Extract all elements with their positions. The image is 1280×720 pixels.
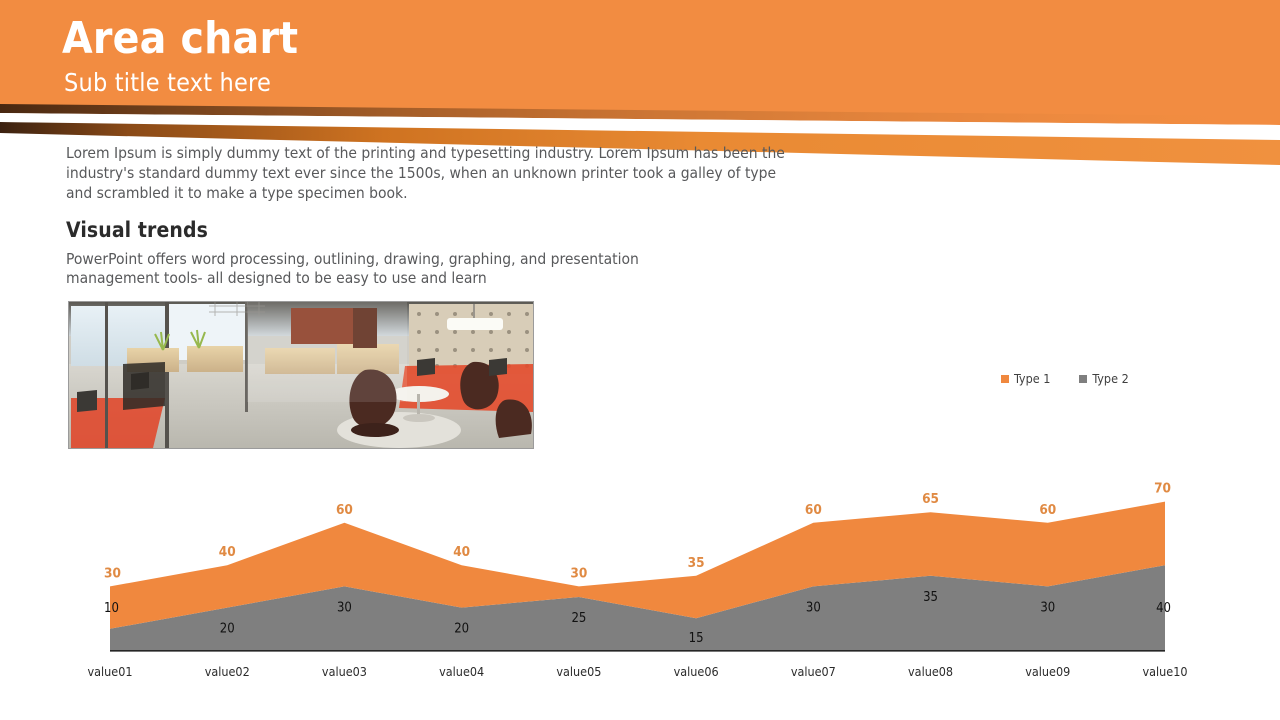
chart-label: value04 bbox=[439, 664, 484, 679]
office-interior-image bbox=[68, 301, 534, 449]
chart-label: value06 bbox=[674, 664, 719, 679]
chart-label: 30 bbox=[806, 600, 821, 615]
chart-label: value07 bbox=[791, 664, 836, 679]
chart-label: 35 bbox=[923, 590, 938, 605]
chart-label: 25 bbox=[571, 611, 586, 626]
chart-label: value09 bbox=[1025, 664, 1070, 679]
chart-label: 40 bbox=[453, 544, 470, 560]
chart-label: value02 bbox=[205, 664, 250, 679]
chart-label: 40 bbox=[219, 544, 236, 560]
stacked-area-chart: 30406040303560656070 1020302025153035304… bbox=[0, 455, 1280, 700]
slide: Area chart Sub title text here Lorem Ips… bbox=[0, 0, 1280, 720]
chart-label: 20 bbox=[220, 622, 235, 637]
chart-label: 65 bbox=[922, 491, 939, 507]
legend-item-type-2[interactable]: Type 2 bbox=[1079, 371, 1128, 386]
chart-label: 10 bbox=[104, 601, 119, 616]
chart-label: value05 bbox=[556, 664, 601, 679]
chart-label: 70 bbox=[1154, 481, 1171, 497]
intro-paragraph: Lorem Ipsum is simply dummy text of the … bbox=[66, 143, 796, 203]
chart-label: 40 bbox=[1156, 601, 1171, 616]
section-heading: Visual trends bbox=[66, 217, 208, 243]
chart-label: 60 bbox=[1039, 502, 1056, 518]
chart-label: value10 bbox=[1142, 664, 1187, 679]
chart-label: value08 bbox=[908, 664, 953, 679]
section-paragraph: PowerPoint offers word processing, outli… bbox=[66, 250, 706, 288]
chart-label: 30 bbox=[337, 600, 352, 615]
legend-item-type-1[interactable]: Type 1 bbox=[1001, 371, 1050, 386]
chart-label: 35 bbox=[688, 555, 705, 571]
legend-label: Type 2 bbox=[1092, 371, 1128, 386]
page-title: Area chart bbox=[62, 14, 298, 64]
chart-label: 20 bbox=[454, 622, 469, 637]
chart-label: 15 bbox=[689, 631, 704, 646]
legend-swatch-icon bbox=[1079, 375, 1087, 383]
legend-swatch-icon bbox=[1001, 375, 1009, 383]
chart-label: 60 bbox=[805, 502, 822, 518]
chart-label: value01 bbox=[87, 664, 132, 679]
chart-legend: Type 1 Type 2 bbox=[1001, 371, 1129, 386]
chart-label: 30 bbox=[570, 565, 587, 581]
legend-label: Type 1 bbox=[1014, 371, 1050, 386]
chart-label: 60 bbox=[336, 502, 353, 518]
category-axis-labels: value01value02value03value04value05value… bbox=[87, 664, 1187, 679]
header-text-group: Area chart Sub title text here bbox=[62, 14, 298, 98]
page-subtitle: Sub title text here bbox=[64, 68, 298, 98]
chart-label: 30 bbox=[1040, 600, 1055, 615]
chart-label: value03 bbox=[322, 664, 367, 679]
header-banner: Area chart Sub title text here bbox=[0, 0, 1280, 165]
chart-label: 30 bbox=[104, 565, 121, 581]
